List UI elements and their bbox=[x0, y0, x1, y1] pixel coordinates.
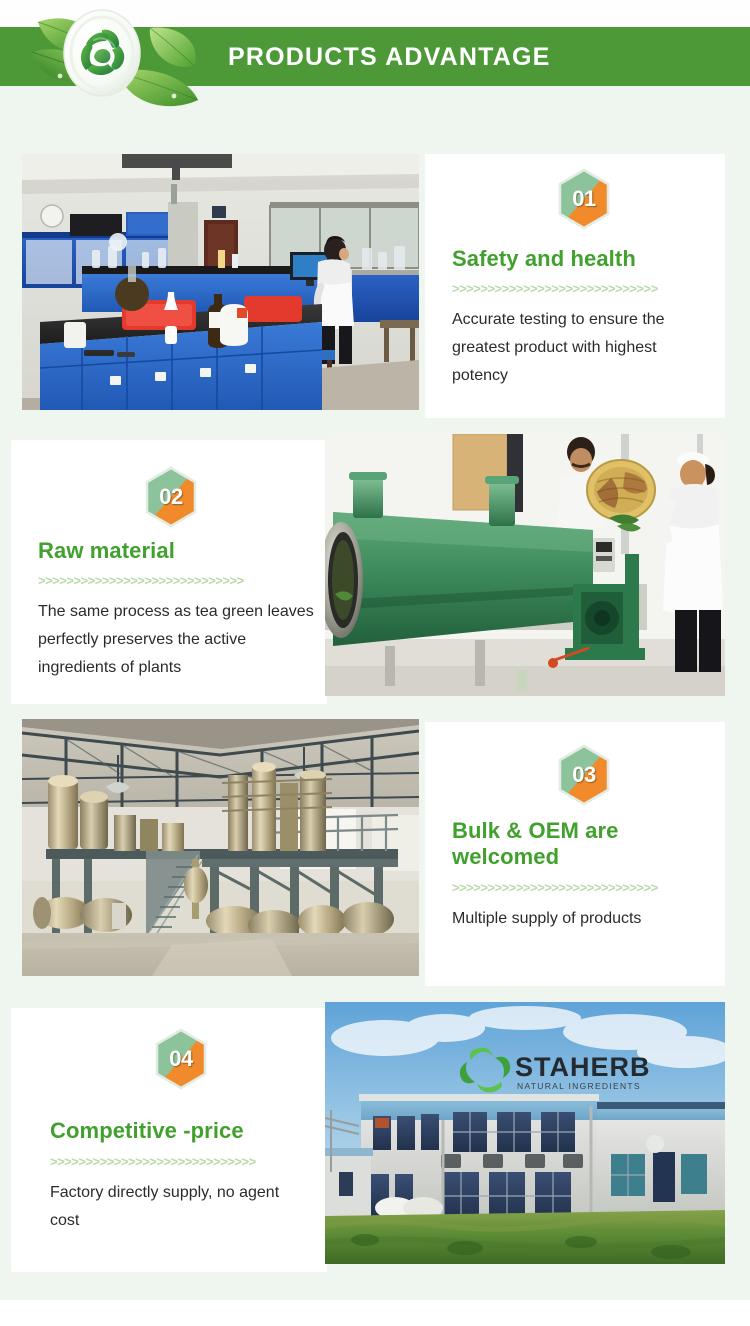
card-title-4: Competitive -price bbox=[50, 1118, 318, 1144]
card-content-4: 04 Competitive -price >>>>>>>>>>>>>>>>>>… bbox=[38, 1028, 318, 1235]
number-badge-label-4: 04 bbox=[154, 1028, 208, 1090]
card-content-2: 02 Raw material >>>>>>>>>>>>>>>>>>>>>>>>… bbox=[38, 466, 318, 682]
number-badge-label-1: 01 bbox=[557, 168, 611, 230]
page-title: PRODUCTS ADVANTAGE bbox=[228, 40, 551, 74]
card-title-2: Raw material bbox=[38, 538, 318, 564]
advantage-row-3: 03 Bulk & OEM are welcomed >>>>>>>>>>>>>… bbox=[0, 722, 750, 986]
number-badge-2: 02 bbox=[144, 466, 198, 528]
card-content-3: 03 Bulk & OEM are welcomed >>>>>>>>>>>>>… bbox=[452, 744, 716, 933]
page-header: PRODUCTS ADVANTAGE bbox=[0, 0, 750, 115]
footer-strip bbox=[0, 1300, 750, 1326]
card-description-4: Factory directly supply, no agent cost bbox=[50, 1179, 280, 1235]
chevron-divider-3: >>>>>>>>>>>>>>>>>>>>>>>>>>>>> bbox=[452, 880, 710, 896]
number-badge-label-3: 03 bbox=[557, 744, 611, 806]
number-badge-3: 03 bbox=[557, 744, 611, 806]
card-description-3: Multiple supply of products bbox=[452, 905, 652, 933]
products-advantage-page: PRODUCTS ADVANTAGE bbox=[0, 0, 750, 1326]
staherb-factory-building-photo: STAHERB NATURAL INGREDIENTS bbox=[325, 1002, 725, 1264]
chevron-divider-4: >>>>>>>>>>>>>>>>>>>>>>>>>>>>> bbox=[50, 1154, 302, 1170]
advantage-row-1: 01 Safety and health >>>>>>>>>>>>>>>>>>>… bbox=[0, 154, 750, 418]
extraction-plant-workshop-photo bbox=[22, 719, 419, 976]
svg-text:NATURAL INGREDIENTS: NATURAL INGREDIENTS bbox=[517, 1081, 641, 1091]
svg-text:STAHERB: STAHERB bbox=[515, 1052, 651, 1082]
tea-leaf-roasting-machine-photo bbox=[325, 434, 725, 696]
advantage-row-4: STAHERB NATURAL INGREDIENTS bbox=[0, 1008, 750, 1272]
chevron-divider-1: >>>>>>>>>>>>>>>>>>>>>>>>>>>>> bbox=[452, 281, 710, 297]
number-badge-4: 04 bbox=[154, 1028, 208, 1090]
chevron-divider-2: >>>>>>>>>>>>>>>>>>>>>>>>>>>>> bbox=[38, 573, 290, 589]
card-description-1: Accurate testing to ensure the greatest … bbox=[452, 306, 710, 390]
staherb-leaf-logo bbox=[22, 0, 222, 115]
card-content-1: 01 Safety and health >>>>>>>>>>>>>>>>>>>… bbox=[452, 168, 716, 390]
number-badge-1: 01 bbox=[557, 168, 611, 230]
card-title-3: Bulk & OEM are welcomed bbox=[452, 818, 672, 870]
card-title-1: Safety and health bbox=[452, 246, 716, 272]
number-badge-label-2: 02 bbox=[144, 466, 198, 528]
advantage-row-2: 02 Raw material >>>>>>>>>>>>>>>>>>>>>>>>… bbox=[0, 440, 750, 704]
card-description-2: The same process as tea green leaves per… bbox=[38, 598, 314, 682]
laboratory-quality-testing-photo bbox=[22, 154, 419, 410]
